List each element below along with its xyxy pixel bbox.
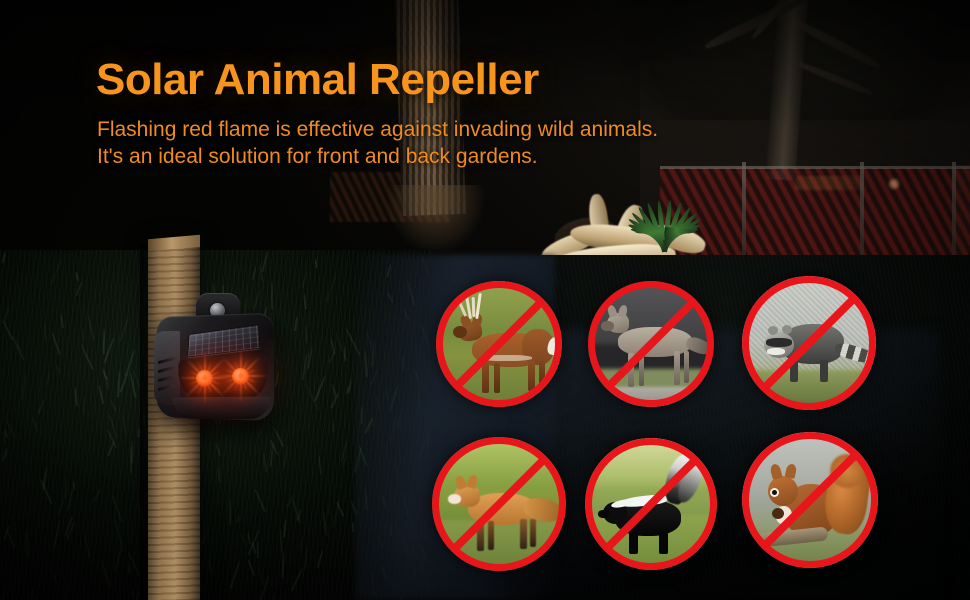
prohibition-ring — [432, 437, 566, 571]
promo-banner: Solar Animal Repeller Flashing red flame… — [0, 0, 970, 600]
subtitle-line-1: Flashing red flame is effective against … — [97, 118, 658, 142]
prohibited-animal-skunk — [585, 438, 717, 570]
device-bottom-lip — [173, 397, 270, 420]
subtitle-line-2: It's an ideal solution for front and bac… — [97, 145, 538, 169]
prohibited-animal-squirrel — [742, 432, 878, 568]
prohibited-animal-coyote — [588, 281, 714, 407]
prohibited-animal-fox — [432, 437, 566, 571]
prohibited-animal-raccoon — [742, 276, 876, 410]
solar-animal-repeller-device[interactable] — [152, 315, 274, 425]
prohibition-ring — [436, 281, 562, 407]
page-title: Solar Animal Repeller — [96, 55, 539, 105]
prohibition-ring — [742, 432, 878, 568]
prohibited-animal-deer — [436, 281, 562, 407]
prohibition-ring — [585, 438, 717, 570]
prohibition-ring — [742, 276, 876, 410]
prohibition-ring — [588, 281, 714, 407]
